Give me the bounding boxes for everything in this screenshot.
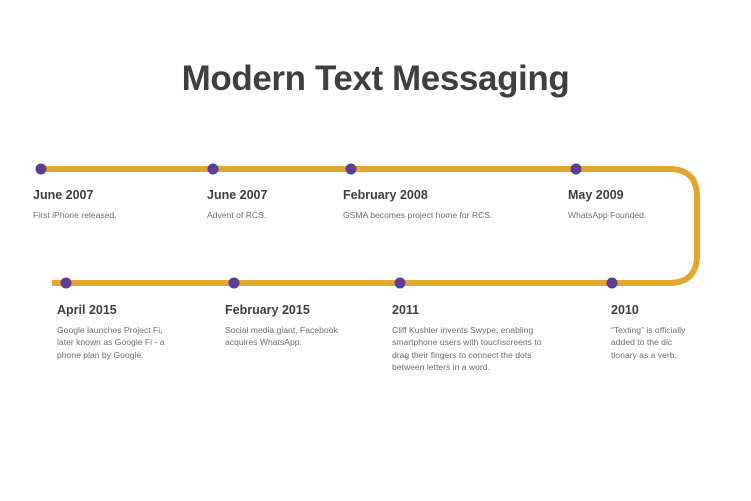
milestone-2011-swype: 2011 Cliff Kushler invents Swype, enabli…	[392, 303, 607, 374]
milestone-description: Social media giant, Facebook acquires Wh…	[225, 324, 395, 349]
milestone-june-2007-rcs: June 2007 Advent of RCS.	[207, 188, 337, 221]
milestone-description: Google launches Project Fi, later known …	[57, 324, 217, 361]
milestone-description: Cliff Kushler invents Swype, enabling sm…	[392, 324, 607, 374]
milestone-description: First iPhone released.	[33, 209, 198, 221]
milestone-date: June 2007	[33, 188, 198, 202]
timeline-infographic: Modern Text Messaging June 2007 First iP…	[0, 0, 751, 501]
milestone-date: June 2007	[207, 188, 337, 202]
milestone-date: April 2015	[57, 303, 217, 317]
milestone-dot[interactable]	[571, 164, 582, 175]
timeline-path	[36, 169, 697, 283]
milestone-date: February 2015	[225, 303, 395, 317]
milestone-dot[interactable]	[395, 278, 406, 289]
milestone-date: 2010	[611, 303, 741, 317]
page-title: Modern Text Messaging	[0, 59, 751, 99]
milestone-dot[interactable]	[61, 278, 72, 289]
milestone-february-2008-gsma: February 2008 GSMA becomes project home …	[343, 188, 563, 221]
milestone-date: 2011	[392, 303, 607, 317]
milestone-dot[interactable]	[229, 278, 240, 289]
milestone-dot[interactable]	[36, 164, 47, 175]
milestone-description: WhatsApp Founded.	[568, 209, 718, 221]
milestone-april-2015-project-fi: April 2015 Google launches Project Fi, l…	[57, 303, 217, 361]
milestone-description: “Texting” is officially added to the dic…	[611, 324, 741, 361]
milestone-description: Advent of RCS.	[207, 209, 337, 221]
milestone-dot[interactable]	[607, 278, 618, 289]
milestone-date: February 2008	[343, 188, 563, 202]
milestone-dot[interactable]	[346, 164, 357, 175]
milestone-february-2015-facebook: February 2015 Social media giant, Facebo…	[225, 303, 395, 349]
milestone-dot[interactable]	[208, 164, 219, 175]
milestone-may-2009-whatsapp: May 2009 WhatsApp Founded.	[568, 188, 718, 221]
milestone-description: GSMA becomes project home for RCS.	[343, 209, 563, 221]
milestone-date: May 2009	[568, 188, 718, 202]
milestone-2010-texting-dictionary: 2010 “Texting” is officially added to th…	[611, 303, 741, 361]
milestone-june-2007-iphone: June 2007 First iPhone released.	[33, 188, 198, 221]
